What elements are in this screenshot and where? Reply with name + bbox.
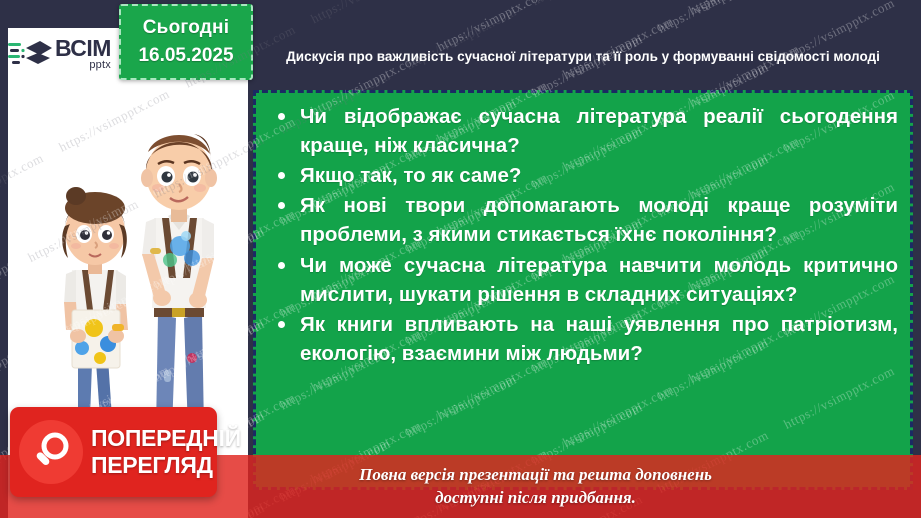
bullet-text: Чи може сучасна література навчити молод… <box>300 251 898 309</box>
logo-main-text: ВСІМ <box>55 38 111 59</box>
graduation-cap-icon <box>8 36 52 72</box>
page-title: Дискусія про важливість сучасної літерат… <box>286 47 880 66</box>
logo-wordmark: ВСІМ pptx <box>55 38 111 70</box>
student-girl-figure <box>62 187 128 433</box>
list-item: Чи відображає сучасна література реалії … <box>270 102 898 160</box>
slide-title-bar: Дискусія про важливість сучасної літерат… <box>253 28 913 86</box>
bullet-text: Якщо так, то як саме? <box>300 161 898 190</box>
bullet-text: Як нові твори допомагають молоді краще р… <box>300 191 898 249</box>
brand-logo: ВСІМ pptx <box>8 30 126 78</box>
bullet-text: Як книги впливають на наші уявлення про … <box>300 310 898 368</box>
preview-badge-line-2: ПЕРЕГЛЯД <box>91 454 241 477</box>
student-boy-figure <box>141 134 217 438</box>
logo-sub-text: pptx <box>55 60 111 70</box>
preview-badge-labels: ПОПЕРЕДНІЙ ПЕРЕГЛЯД <box>91 427 241 477</box>
magnifier-icon <box>19 420 83 484</box>
preview-badge-line-1: ПОПЕРЕДНІЙ <box>91 427 241 450</box>
banner-line-1: Повна версія презентації та решта доповн… <box>359 464 712 487</box>
discussion-question-list: Чи відображає сучасна література реалії … <box>256 93 910 368</box>
two-students-illustration <box>16 118 248 448</box>
bullet-text: Чи відображає сучасна література реалії … <box>300 102 898 160</box>
date-tag-value: 16.05.2025 <box>138 45 233 67</box>
preview-badge: ПОПЕРЕДНІЙ ПЕРЕГЛЯД <box>10 407 217 497</box>
list-item: Як нові твори допомагають молоді краще р… <box>270 191 898 249</box>
slide-content-box: Чи відображає сучасна література реалії … <box>253 90 913 490</box>
list-item: Чи може сучасна література навчити молод… <box>270 251 898 309</box>
list-item: Як книги впливають на наші уявлення про … <box>270 310 898 368</box>
list-item: Якщо так, то як саме? <box>270 161 898 190</box>
slide-canvas: ВСІМ pptx Сьогодні 16.05.2025 Дискусія п… <box>0 0 921 518</box>
date-tag-label: Сьогодні <box>143 17 229 39</box>
today-date-tag: Сьогодні 16.05.2025 <box>119 4 253 80</box>
banner-line-2: доступні після придбання. <box>435 487 636 510</box>
